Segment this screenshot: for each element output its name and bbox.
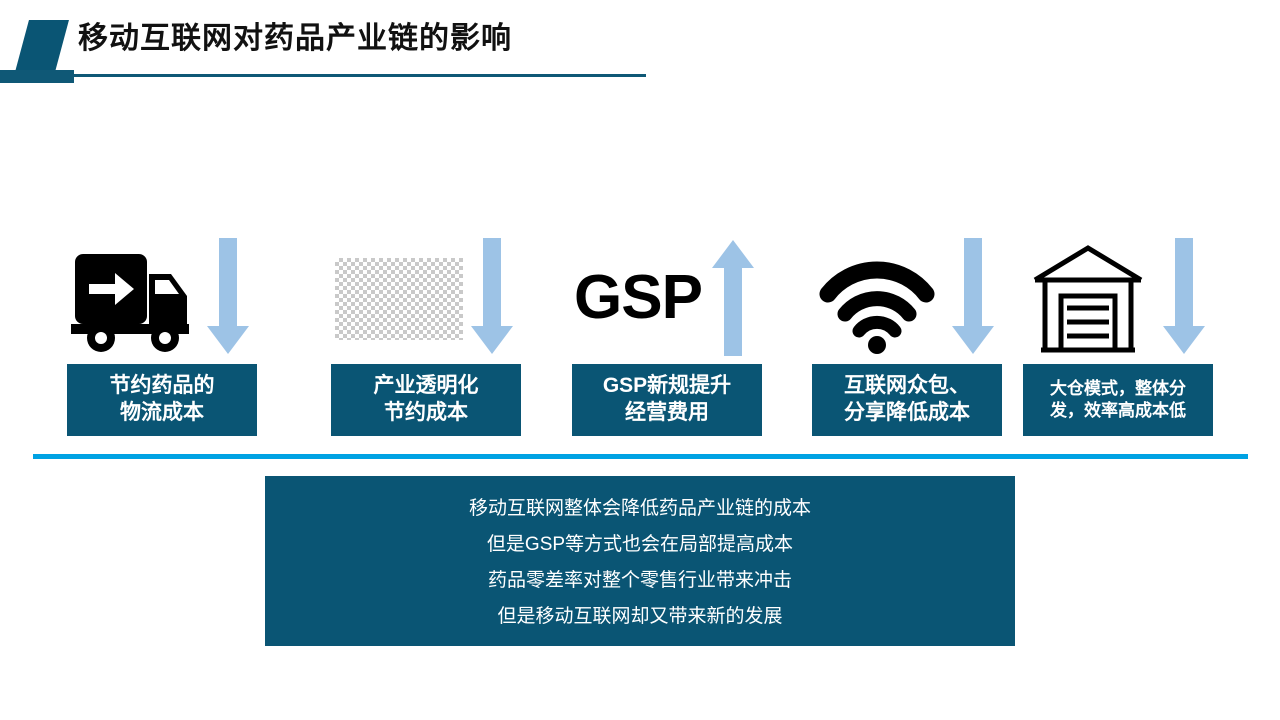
gsp-text-icon: GSP: [572, 238, 702, 358]
summary-line-2: 但是GSP等方式也会在局部提高成本: [487, 527, 793, 563]
flow-label-text-2: 产业透明化 节约成本: [374, 373, 479, 427]
flow-label-box-5[interactable]: 大仓模式，整体分 发，效率高成本低: [1023, 364, 1213, 436]
wifi-icon: [812, 238, 942, 358]
flow-icon-cell-2: [331, 238, 521, 358]
flow-label-text-1: 节约药品的 物流成本: [110, 373, 215, 427]
summary-line-3: 药品零差率对整个零售行业带来冲击: [488, 563, 792, 599]
flow-icon-cell-5: [1023, 238, 1213, 358]
delivery-truck-icon: [67, 238, 197, 358]
header-rule-thick: [0, 70, 74, 83]
image-placeholder-icon: [331, 238, 461, 358]
warehouse-icon: [1023, 238, 1153, 358]
slide-header: 移动互联网对药品产业链的影响: [0, 0, 1280, 100]
flow-label-box-3[interactable]: GSP新规提升 经营费用: [572, 364, 762, 436]
down-arrow-icon-5: [1161, 238, 1207, 356]
up-arrow-icon-3: [710, 238, 756, 356]
flow-icon-cell-1: [67, 238, 257, 358]
missing-image-checkerboard: [335, 258, 463, 340]
flow-label-text-3: GSP新规提升 经营费用: [603, 373, 731, 427]
summary-box: 移动互联网整体会降低药品产业链的成本 但是GSP等方式也会在局部提高成本 药品零…: [265, 476, 1015, 646]
flow-icon-cell-4: [812, 238, 1002, 358]
gsp-label: GSP: [574, 262, 714, 334]
page-title: 移动互联网对药品产业链的影响: [78, 19, 512, 59]
flow-label-box-2[interactable]: 产业透明化 节约成本: [331, 364, 521, 436]
flow-label-text-4: 互联网众包、 分享降低成本: [844, 373, 970, 427]
down-arrow-icon-2: [469, 238, 515, 356]
section-divider: [33, 454, 1248, 459]
header-accent-shape: [15, 20, 69, 72]
flow-label-box-1[interactable]: 节约药品的 物流成本: [67, 364, 257, 436]
down-arrow-icon-1: [205, 238, 251, 356]
flow-icon-cell-3: GSP: [572, 238, 762, 358]
summary-line-4: 但是移动互联网却又带来新的发展: [497, 599, 782, 635]
header-rule-thin: [74, 74, 646, 77]
flow-label-box-4[interactable]: 互联网众包、 分享降低成本: [812, 364, 1002, 436]
summary-line-1: 移动互联网整体会降低药品产业链的成本: [469, 491, 811, 527]
flow-label-text-5: 大仓模式，整体分 发，效率高成本低: [1050, 378, 1186, 422]
down-arrow-icon-4: [950, 238, 996, 356]
